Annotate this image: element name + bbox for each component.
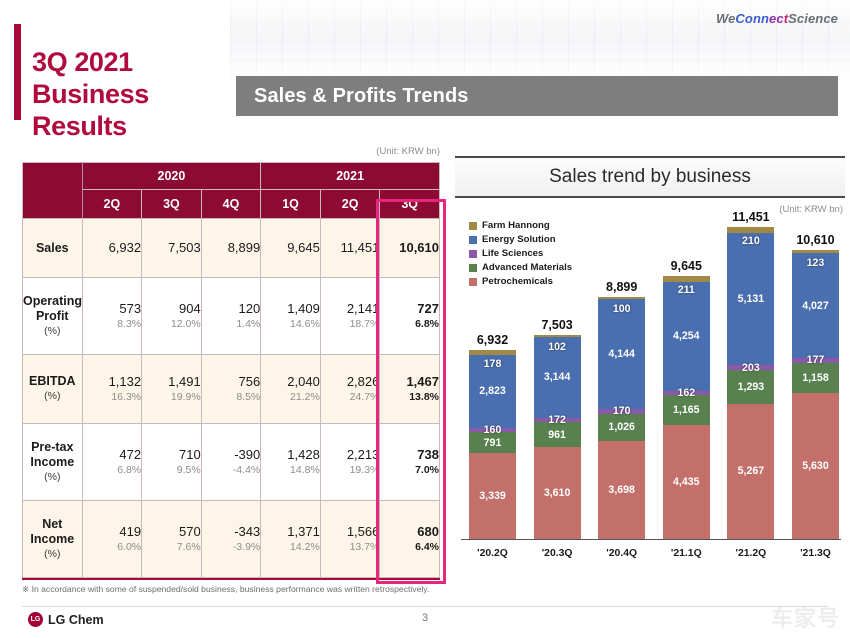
pct: 12.0% [142,317,201,331]
bar-segment-advanced-materials[interactable]: 1,026 [598,414,645,441]
cell-ebitda-2021-2q: 2,82624.7% [320,355,380,424]
bar-segment-label: 203 [742,362,760,374]
table-unit-note: (Unit: KRW bn) [0,146,440,157]
table-head-row-quarters: 2Q 3Q 4Q 1Q 2Q 3Q [23,190,440,219]
bar-segment-petrochemicals[interactable]: 3,610 [534,447,581,539]
chart-unit-note: (Unit: KRW bn) [779,204,843,215]
bar-segment-label: 1,165 [673,404,700,416]
cell-net-2021-1q: 1,37114.2% [261,501,321,578]
cell-pretax-2021-1q: 1,42814.8% [261,424,321,501]
bar-segment-advanced-materials[interactable]: 961 [534,422,581,447]
value: 1,132 [109,374,142,389]
cell-op-2020-4q: 1201.4% [201,278,261,355]
bar-stack: 1234,0271771,1585,630 [792,250,839,539]
watermark: 车家号 [720,600,840,634]
row-label-line1: EBITDA [29,374,76,388]
table-col-2021-2q: 2Q [320,190,380,219]
footer-divider [22,606,828,607]
value: 680 [417,524,439,539]
cell-sales-2020-3q: 7,503 [142,219,202,278]
value: 2,141 [347,301,380,316]
bar-segment-energy-solution[interactable]: 5,131 [727,233,774,365]
bar-segment-label: 3,144 [544,371,571,383]
cell-op-2020-2q: 5738.3% [82,278,142,355]
bar-segment-advanced-materials[interactable]: 1,165 [663,395,710,425]
cell-net-2021-2q: 1,56613.7% [320,501,380,578]
cell-op-2021-2q: 2,14118.7% [320,278,380,355]
value: 738 [417,447,439,462]
cell-net-2021-3q: 6806.4% [380,501,440,578]
value: 2,040 [287,374,320,389]
pct: 18.7% [321,317,380,331]
x-axis-label: '20.3Q [534,548,581,559]
bar-stack: 1004,1441701,0263,698 [598,297,645,539]
cell-net-2020-4q: -343-3.9% [201,501,261,578]
bar-group-211Q[interactable]: 9,6452114,2541621,1654,435 [663,259,710,539]
row-label-line1: Net [42,517,62,531]
row-label-ebitda: EBITDA (%) [23,355,83,424]
table-row: EBITDA (%) 1,13216.3% 1,49119.9% 7568.5%… [23,355,440,424]
bar-segment-label: 170 [613,405,631,417]
table-col-2021-1q: 1Q [261,190,321,219]
bar-segment-label: 102 [548,341,566,353]
bar-stack: 2105,1312031,2935,267 [727,227,774,539]
row-label-line2: Income [30,532,74,546]
pct: 19.3% [321,463,380,477]
value: 1,467 [406,374,439,389]
pct: 6.8% [380,317,439,331]
bar-segment-label: 1,293 [738,381,765,393]
page-title: 3Q 2021 Business Results [32,46,232,142]
bar-segment-label: 162 [677,387,695,399]
row-label-net-income: Net Income (%) [23,501,83,578]
pct: 24.7% [321,390,380,404]
logo-part-we: We [716,11,735,26]
cell-pretax-2020-4q: -390-4.4% [201,424,261,501]
bar-segment-label: 210 [742,235,760,247]
row-label-pct: (%) [23,470,82,485]
bar-total-label: 10,610 [796,233,834,247]
page-title-line1: 3Q 2021 [32,47,133,77]
cell-sales-2021-2q: 11,451 [320,219,380,278]
bar-segment-label: 4,144 [608,348,635,360]
x-axis-label: '20.4Q [598,548,645,559]
bar-segment-advanced-materials[interactable]: 1,293 [727,370,774,403]
value: 570 [179,524,201,539]
value: 904 [179,301,201,316]
cell-op-2021-3q: 7276.8% [380,278,440,355]
cell-sales-2021-3q: 10,610 [380,219,440,278]
bar-segment-label: 123 [807,257,825,269]
cell-net-2020-3q: 5707.6% [142,501,202,578]
value: 2,826 [347,374,380,389]
cell-ebitda-2020-4q: 7568.5% [201,355,261,424]
pct: 19.9% [142,390,201,404]
table-row: Operating Profit (%) 5738.3% 90412.0% 12… [23,278,440,355]
x-axis-label: '21.2Q [727,548,774,559]
chart-x-axis-labels: '20.2Q'20.3Q'20.4Q'21.1Q'21.2Q'21.3Q [469,543,839,563]
value: 1,409 [287,301,320,316]
pct: 1.4% [202,317,261,331]
bar-segment-petrochemicals[interactable]: 5,630 [792,393,839,539]
cell-sales-2020-2q: 6,932 [82,219,142,278]
table-col-2020-3q: 3Q [142,190,202,219]
value: 710 [179,447,201,462]
table-col-2020-2q: 2Q [82,190,142,219]
bar-segment-energy-solution[interactable]: 4,144 [598,299,645,409]
bar-stack: 1782,8231607913,339 [469,350,516,539]
row-label-line2: Profit [36,309,69,323]
pct: 9.5% [142,463,201,477]
bar-segment-label: 4,435 [673,476,700,488]
table-corner-cell [23,163,83,219]
x-axis-label: '21.3Q [792,548,839,559]
logo-part-conn: Conn [735,11,769,26]
table-footnote: ※ In accordance with some of suspended/s… [22,584,452,595]
bar-segment-label: 791 [484,437,502,449]
row-label-line1: Pre-tax [31,440,73,454]
value: 1,371 [287,524,320,539]
table-year-group-2021: 2021 [261,163,440,190]
bar-total-label: 9,645 [671,259,702,273]
bar-segment-label: 100 [613,303,631,315]
row-label-line1: Operating [23,294,82,308]
table-col-2021-3q: 3Q [380,190,440,219]
value: 727 [417,301,439,316]
table-body: Sales 6,932 7,503 8,899 9,645 11,451 10,… [23,219,440,578]
cell-pretax-2021-3q: 7387.0% [380,424,440,501]
cell-op-2021-1q: 1,40914.6% [261,278,321,355]
table-row: Sales 6,932 7,503 8,899 9,645 11,451 10,… [23,219,440,278]
bar-segment-label: 5,630 [802,460,829,472]
page-title-line2: Business Results [32,78,232,142]
pct: 16.3% [83,390,142,404]
pct: 7.0% [380,463,439,477]
pct: 13.8% [380,390,439,404]
section-heading-band: Sales & Profits Trends [236,76,838,116]
table-row: Pre-tax Income (%) 4726.8% 7109.5% -390-… [23,424,440,501]
cell-ebitda-2020-2q: 1,13216.3% [82,355,142,424]
bar-segment-energy-solution[interactable]: 4,027 [792,253,839,358]
pct: 8.3% [83,317,142,331]
row-label-pretax-income: Pre-tax Income (%) [23,424,83,501]
bar-segment-advanced-materials[interactable]: 1,158 [792,363,839,393]
x-axis-label: '20.2Q [469,548,516,559]
bar-segment-label: 1,158 [802,372,829,384]
bar-segment-label: 1,026 [608,421,635,433]
value: 1,428 [287,447,320,462]
table-col-2020-4q: 4Q [201,190,261,219]
value: 472 [119,447,141,462]
cell-ebitda-2021-1q: 2,04021.2% [261,355,321,424]
cell-pretax-2021-2q: 2,21319.3% [320,424,380,501]
x-axis-label: '21.1Q [663,548,710,559]
chart-plot-area: 6,9321782,8231607913,3397,5031023,144172… [461,218,845,565]
value: 2,213 [347,447,380,462]
bar-segment-petrochemicals[interactable]: 3,698 [598,441,645,539]
row-label-pct: (%) [23,547,82,562]
bar-segment-label: 160 [484,424,502,436]
pct: 7.6% [142,540,201,554]
cell-sales-2021-1q: 9,645 [261,219,321,278]
sales-trend-chart-panel: Sales trend by business (Unit: KRW bn) F… [455,156,845,576]
bar-segment-label: 177 [807,354,825,366]
cell-ebitda-2020-3q: 1,49119.9% [142,355,202,424]
bar-segment-label: 172 [548,414,566,426]
pct: 14.6% [261,317,320,331]
bar-stack: 1023,1441729613,610 [534,335,581,539]
cell-op-2020-3q: 90412.0% [142,278,202,355]
bar-segment-energy-solution[interactable]: 4,254 [663,282,710,391]
pct: 14.8% [261,463,320,477]
table-head: 2020 2021 2Q 3Q 4Q 1Q 2Q 3Q [23,163,440,219]
title-accent-bar [14,24,21,120]
value: 756 [239,374,261,389]
pct: 6.8% [83,463,142,477]
pct: -4.4% [202,463,261,477]
value: 573 [119,301,141,316]
row-label-sales: Sales [23,219,83,278]
logo-part-ec: ec [769,11,784,26]
value: 419 [119,524,141,539]
row-label-line2: Income [30,455,74,469]
pct: 21.2% [261,390,320,404]
weconnectscience-logo: WeConnectScience [716,11,838,26]
bar-segment-label: 2,823 [479,385,506,397]
pct: 6.0% [83,540,142,554]
pct: 6.4% [380,540,439,554]
logo-part-science: Science [788,11,838,26]
cell-ebitda-2021-3q: 1,46713.8% [380,355,440,424]
bar-group-202Q[interactable]: 6,9321782,8231607913,339 [469,333,516,539]
bar-segment-petrochemicals[interactable]: 4,435 [663,425,710,539]
bar-segment-label: 5,267 [738,465,765,477]
chart-title-text: Sales trend by business [549,166,751,188]
bar-segment-label: 3,610 [544,487,571,499]
row-label-pct: (%) [23,324,82,339]
table-head-row-years: 2020 2021 [23,163,440,190]
bar-segment-label: 4,027 [802,300,829,312]
bar-segment-petrochemicals[interactable]: 3,339 [469,453,516,539]
bar-segment-petrochemicals[interactable]: 5,267 [727,404,774,540]
bar-total-label: 8,899 [606,280,637,294]
bar-segment-label: 3,339 [479,490,506,502]
chart-title: Sales trend by business [455,156,845,198]
cell-net-2020-2q: 4196.0% [82,501,142,578]
chart-bars: 6,9321782,8231607913,3397,5031023,144172… [469,218,839,539]
bar-segment-label: 211 [678,284,695,296]
bar-segment-label: 178 [484,358,502,370]
value: 120 [239,301,261,316]
table-row: Net Income (%) 4196.0% 5707.6% -343-3.9%… [23,501,440,578]
table-year-group-2020: 2020 [82,163,261,190]
financial-summary-table: 2020 2021 2Q 3Q 4Q 1Q 2Q 3Q Sales 6,932 … [22,162,440,578]
bar-total-label: 7,503 [541,318,572,332]
pct: 8.5% [202,390,261,404]
bar-segment-label: 5,131 [738,293,765,305]
bar-total-label: 11,451 [732,210,770,224]
bar-stack: 2114,2541621,1654,435 [663,276,710,539]
bar-group-204Q[interactable]: 8,8991004,1441701,0263,698 [598,280,645,539]
cell-pretax-2020-3q: 7109.5% [142,424,202,501]
pct: 14.2% [261,540,320,554]
pct: 13.7% [321,540,380,554]
bar-group-203Q[interactable]: 7,5031023,1441729613,610 [534,318,581,539]
bar-group-213Q[interactable]: 10,6101234,0271771,1585,630 [792,233,839,539]
bar-group-212Q[interactable]: 11,4512105,1312031,2935,267 [727,210,774,539]
bar-segment-label: 4,254 [673,330,700,342]
bar-segment-label: 961 [548,429,566,441]
bar-segment-label: 3,698 [608,484,635,496]
table-bottom-rule [22,578,440,580]
section-heading-text: Sales & Profits Trends [236,85,469,108]
value: 1,566 [347,524,380,539]
bar-total-label: 6,932 [477,333,508,347]
cell-pretax-2020-2q: 4726.8% [82,424,142,501]
pct: -3.9% [202,540,261,554]
value: 1,491 [168,374,201,389]
row-label-pct: (%) [23,389,82,404]
row-label-operating-profit: Operating Profit (%) [23,278,83,355]
value: -390 [234,447,260,462]
value: -343 [234,524,260,539]
chart-x-axis-line [461,539,841,541]
cell-sales-2020-4q: 8,899 [201,219,261,278]
